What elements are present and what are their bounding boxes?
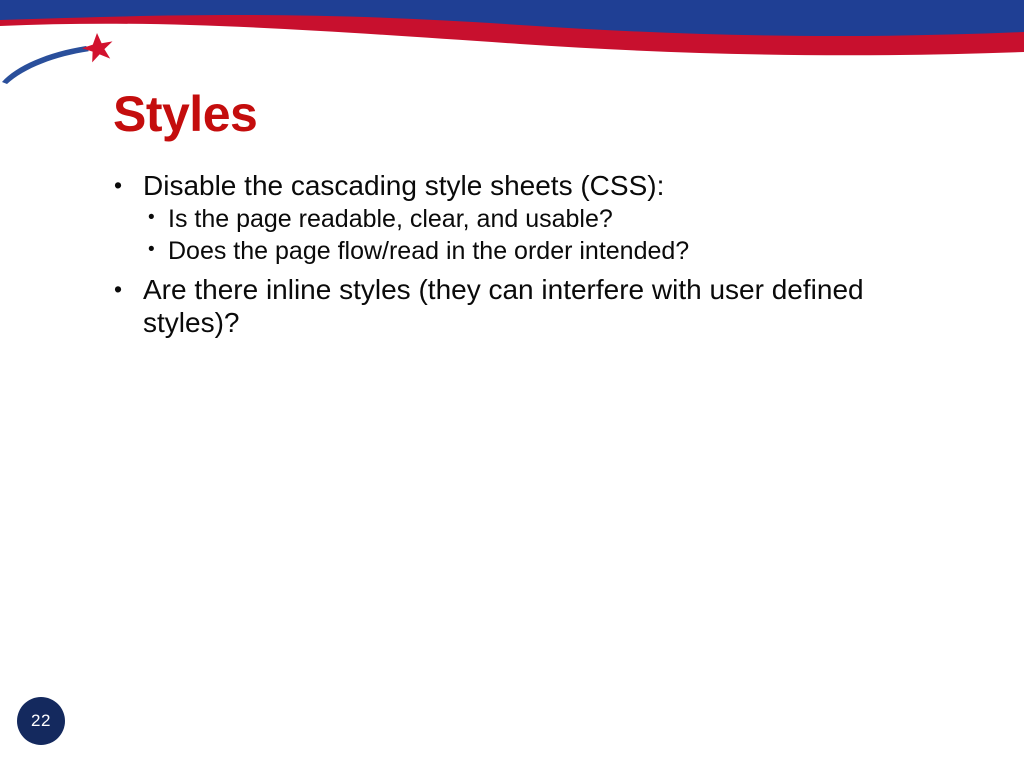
bullet-text: Disable the cascading style sheets (CSS)… bbox=[143, 170, 903, 203]
bullet-glyph-icon: • bbox=[112, 170, 143, 202]
bullet-item-level1: • Disable the cascading style sheets (CS… bbox=[112, 170, 962, 203]
page-title: Styles bbox=[113, 88, 973, 140]
star-icon bbox=[82, 33, 113, 62]
red-wave-stripe bbox=[0, 14, 1024, 55]
bullet-text: Is the page readable, clear, and usable? bbox=[168, 204, 962, 234]
slide-canvas: Styles • Disable the cascading style she… bbox=[0, 0, 1024, 768]
bullet-item-level1: • Are there inline styles (they can inte… bbox=[112, 274, 962, 340]
bullet-glyph-icon: • bbox=[146, 236, 168, 265]
page-number-badge: 22 bbox=[17, 697, 65, 745]
bullet-text: Does the page flow/read in the order int… bbox=[168, 236, 962, 266]
bullet-item-level2: • Does the page flow/read in the order i… bbox=[146, 236, 962, 266]
header-banner-decoration bbox=[0, 0, 1024, 90]
comet-tail-icon bbox=[2, 46, 89, 84]
slide-body: • Disable the cascading style sheets (CS… bbox=[112, 170, 962, 340]
bullet-text: Are there inline styles (they can interf… bbox=[143, 274, 903, 340]
bullet-glyph-icon: • bbox=[112, 274, 143, 306]
bullet-glyph-icon: • bbox=[146, 204, 168, 233]
comet-logo bbox=[0, 32, 130, 90]
bullet-item-level2: • Is the page readable, clear, and usabl… bbox=[146, 204, 962, 234]
blue-header-band bbox=[0, 0, 1024, 36]
